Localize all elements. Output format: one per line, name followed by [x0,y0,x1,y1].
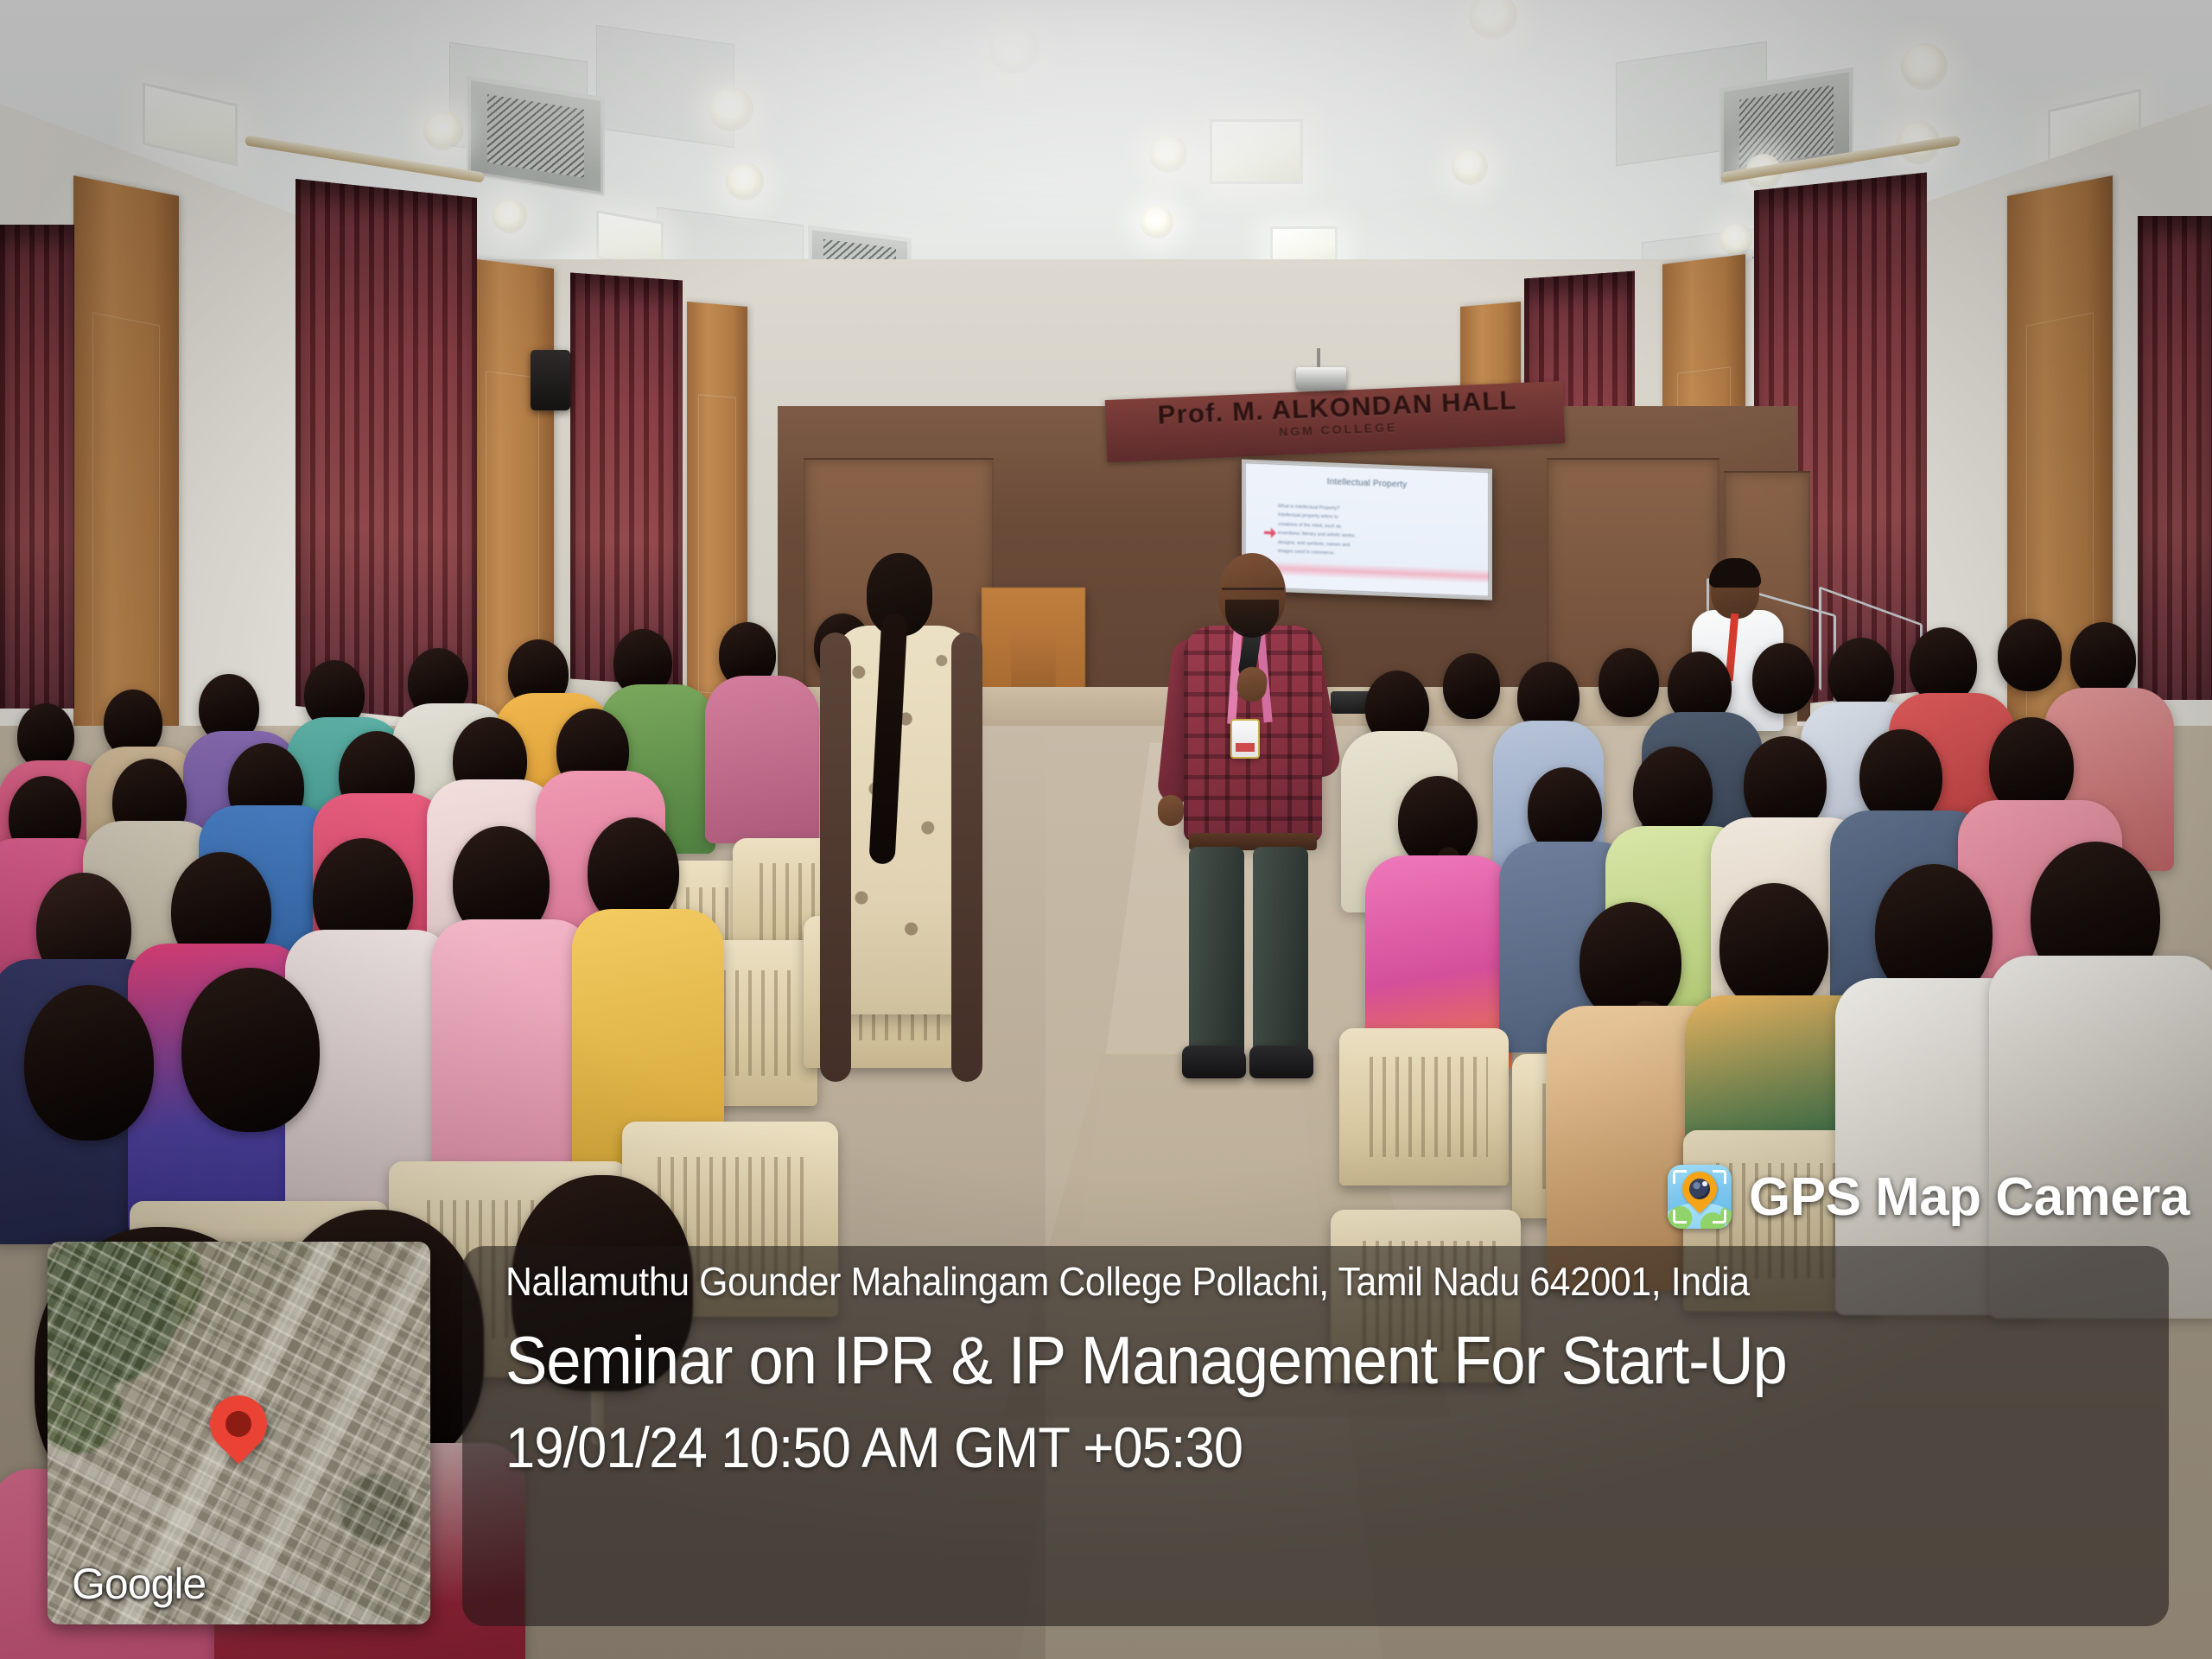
focus-bracket-bottom-right [1713,1210,1726,1224]
map-thumbnail[interactable]: Google [48,1242,430,1624]
ceiling-projector [1296,367,1346,390]
ceiling-spotlight [1719,223,1752,256]
left-shoe [1182,1046,1246,1078]
standing-woman-in-aisle [825,553,981,1210]
audience-head [1910,627,1977,703]
wall-speaker-box [531,350,570,410]
gps-map-camera-label: GPS Map Camera [1749,1166,2190,1228]
gps-map-camera-watermark: GPS Map Camera [1668,1165,2190,1229]
right-leg [1253,847,1308,1065]
camera-lens-icon [1688,1177,1712,1201]
audience-head [1998,619,2062,691]
ceiling-panel-light [1210,119,1303,184]
focus-bracket-top-left [1673,1170,1687,1184]
plastic-chair [1339,1028,1509,1185]
capture-timestamp: 19/01/24 10:50 AM GMT +05:30 [505,1414,2056,1482]
ceiling-spotlight [1469,0,1517,40]
ceiling-spotlight [1141,206,1173,238]
podium-lectern [982,588,1085,700]
audience-head [1528,767,1602,854]
focus-bracket-top-right [1713,1170,1726,1184]
hair [1709,558,1761,588]
slide-bullet-arrow-icon [1264,527,1276,538]
focus-bracket-bottom-left [1673,1210,1687,1224]
info-overlay-text: Nallamuthu Gounder Mahalingam College Po… [505,1257,2173,1482]
window-curtain [2138,216,2212,700]
presenter-speaker [1166,553,1331,1080]
ceiling-spotlight [726,162,764,200]
dupatta-left [820,632,851,1082]
audience-head [181,968,320,1132]
event-title: Seminar on IPR & IP Management For Start… [505,1319,2056,1402]
window-curtain [296,179,477,725]
slide-body-text: What is Intellectual Property? Intellect… [1278,502,1356,559]
ceiling-spotlight [423,111,463,150]
ceiling-spotlight [989,24,1039,74]
google-watermark: Google [72,1559,206,1609]
ceiling-spotlight [709,86,753,131]
audience-body [432,919,593,1199]
audience-body [705,676,819,843]
audience-head [1580,902,1681,1021]
ceiling-spotlight [1901,43,1948,90]
audience-head [1599,648,1659,717]
ac-vent [467,75,605,196]
right-shoe [1249,1046,1313,1078]
audience-head [17,703,74,769]
gps-map-camera-app-icon [1668,1165,1732,1229]
photo-canvas: Prof. M. ALKONDAN HALL NGM COLLEGE Intel… [0,0,2212,1659]
free-hand [1158,795,1184,826]
id-badge [1230,719,1260,759]
audience-head [1633,747,1713,838]
ceiling-panel-light [143,82,238,166]
left-leg [1189,847,1244,1065]
audience-head [1752,643,1815,714]
audience-head [1719,883,1828,1011]
eyeglasses [1222,588,1284,597]
audience-head [2070,622,2136,696]
ceiling-spotlight [1149,135,1187,173]
ceiling-spotlight [1452,149,1488,185]
window-curtain [0,225,74,709]
window-curtain [570,272,683,686]
ceiling-spotlight [493,199,527,233]
slide-title: Intellectual Property [1245,474,1489,493]
dupatta-right [951,632,982,1082]
audience-head [1443,653,1500,719]
location-address: Nallamuthu Gounder Mahalingam College Po… [505,1257,2056,1307]
audience-head [24,985,154,1141]
